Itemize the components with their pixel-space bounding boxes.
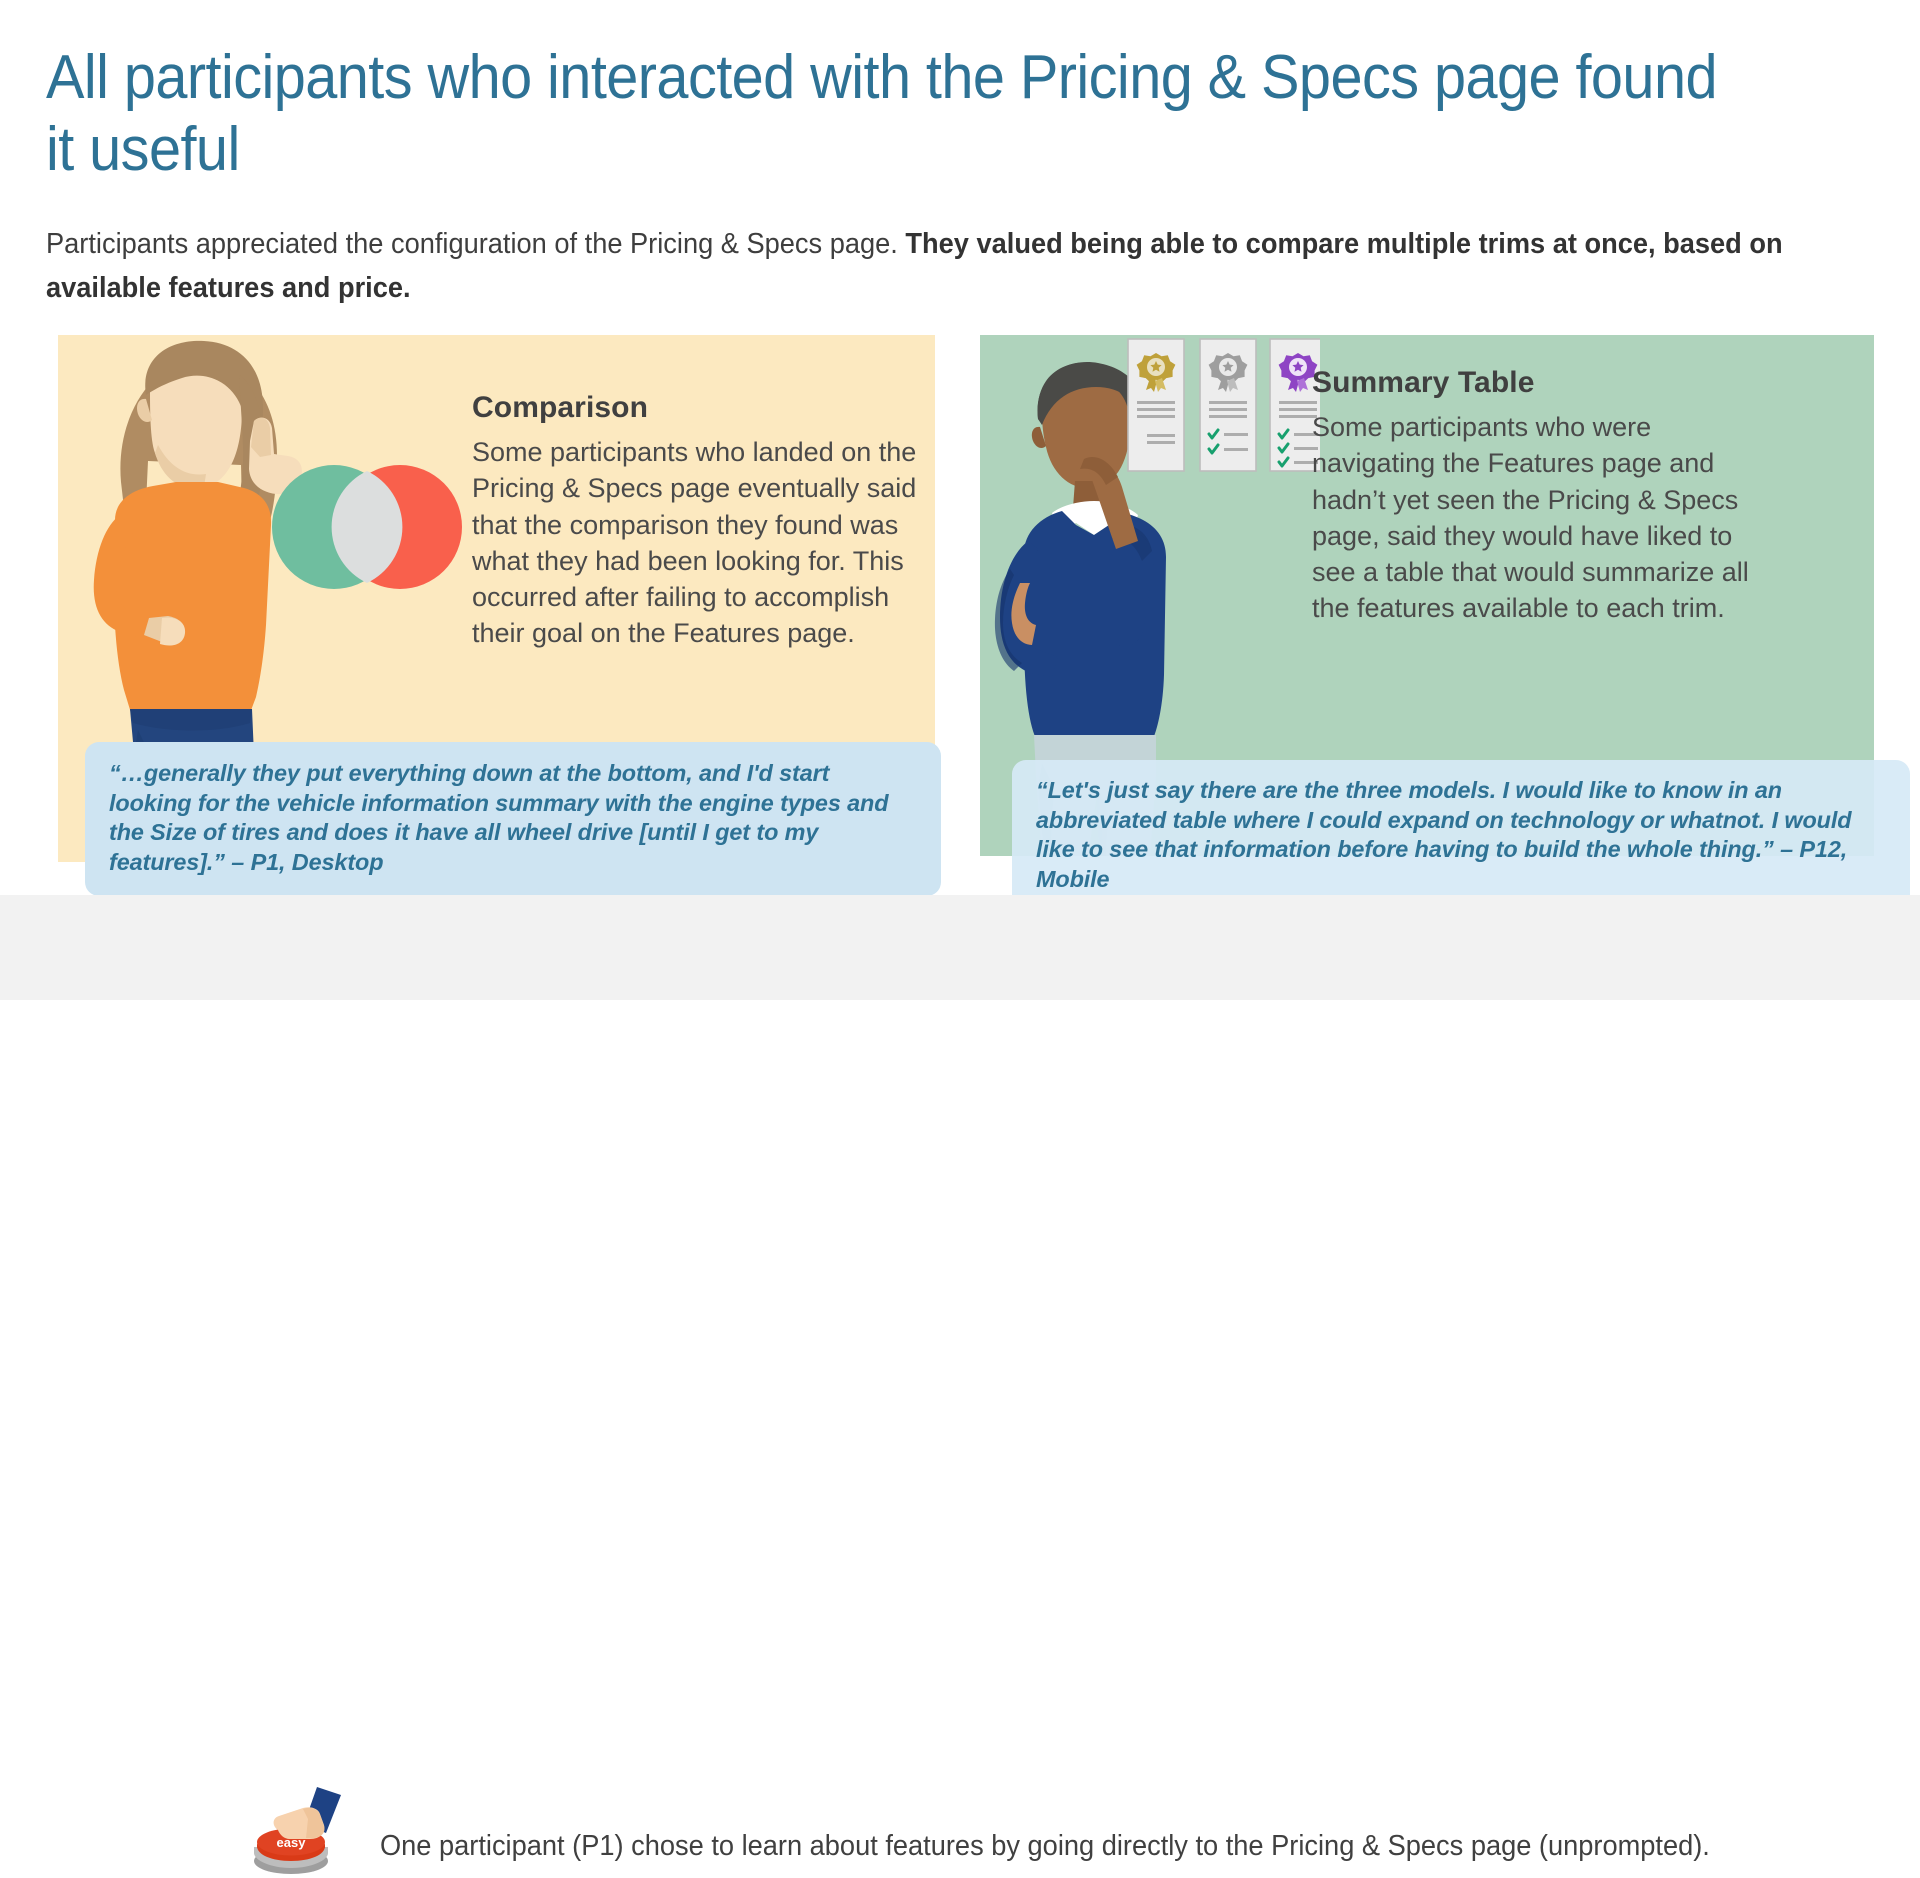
participant-quote-right: “Let's just say there are the three mode…	[1012, 760, 1910, 912]
card-summary-table: Summary Table Some participants who were…	[980, 335, 1874, 856]
card-summary-table-title: Summary Table	[1312, 366, 1535, 400]
page-title: All participants who interacted with the…	[46, 42, 1757, 186]
certificate-card-silver	[1200, 339, 1256, 471]
footer-note: One participant (P1) chose to learn abou…	[380, 1827, 1710, 1865]
card-comparison-body: Some participants who landed on the Pric…	[472, 434, 927, 652]
venn-diagram-graphic	[272, 465, 462, 589]
easy-button-illustration: easy	[248, 1783, 358, 1878]
card-summary-table-body: Some participants who were navigating th…	[1312, 409, 1767, 627]
footer-band: easy One participant (P1) chose to learn…	[0, 895, 1920, 1000]
certificate-card-gold	[1128, 339, 1184, 471]
card-comparison-title: Comparison	[472, 391, 648, 425]
card-comparison: Comparison Some participants who landed …	[58, 335, 935, 862]
subtitle-normal-text: Participants appreciated the configurati…	[46, 228, 905, 260]
participant-quote-left: “…generally they put everything down at …	[85, 742, 941, 896]
page-subtitle: Participants appreciated the configurati…	[46, 222, 1808, 310]
